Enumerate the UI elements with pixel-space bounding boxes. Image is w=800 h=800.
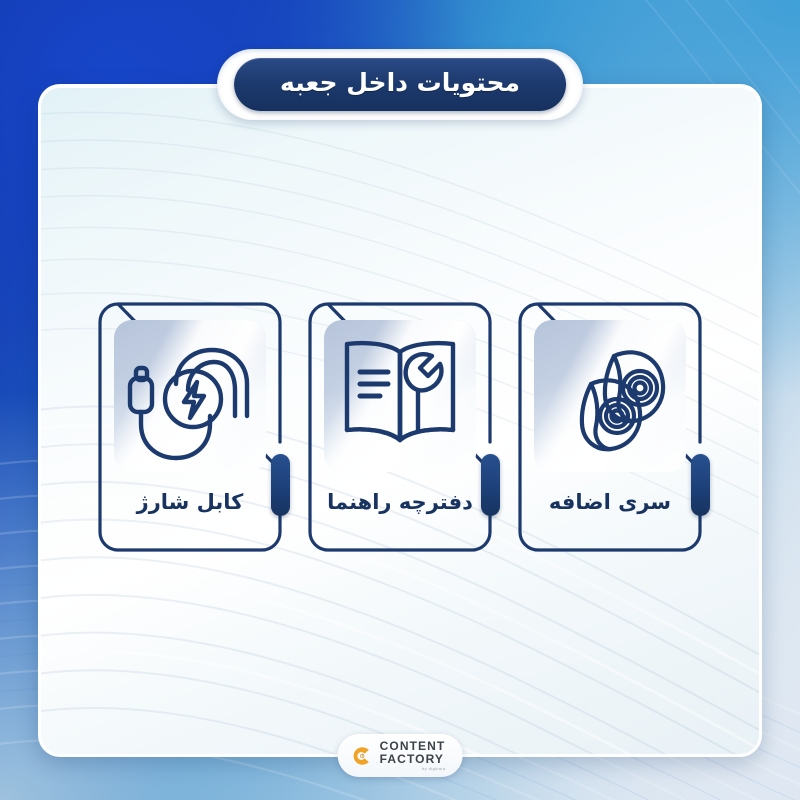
page-title: محتویات داخل جعبه	[280, 68, 520, 97]
icon-container	[534, 320, 686, 472]
title-badge: محتویات داخل جعبه	[217, 49, 583, 120]
title-badge-inner: محتویات داخل جعبه	[234, 58, 566, 111]
card-charging-cable[interactable]: کابل شارژ	[98, 302, 282, 552]
card-extra-eartips[interactable]: سری اضافه	[518, 302, 702, 552]
card-accent-tab	[271, 454, 290, 516]
card-body: سری اضافه	[518, 302, 702, 552]
card-label: کابل شارژ	[137, 490, 244, 514]
card-label: سری اضافه	[549, 490, 671, 514]
feature-cards-row: کابل شارژ	[0, 302, 800, 552]
icon-container	[324, 320, 476, 472]
card-accent-tab	[481, 454, 500, 516]
brand-logo[interactable]: CONTENT FACTORY by digikala	[338, 734, 463, 777]
charging-cable-icon	[114, 320, 266, 472]
title-badge-outer: محتویات داخل جعبه	[217, 49, 583, 120]
icon-container	[114, 320, 266, 472]
card-label: دفترچه راهنما	[327, 490, 473, 514]
card-body: دفترچه راهنما	[308, 302, 492, 552]
card-accent-tab	[691, 454, 710, 516]
logo-line-1: CONTENT	[380, 740, 446, 752]
logo-line-2: FACTORY	[380, 753, 446, 765]
card-manual-book[interactable]: دفترچه راهنما	[308, 302, 492, 552]
manual-book-wrench-icon	[324, 320, 476, 472]
logo-wordmark: CONTENT FACTORY by digikala	[380, 740, 446, 771]
logo-subtitle: by digikala	[422, 767, 445, 771]
c-logo-mark-icon	[351, 745, 373, 767]
card-body: کابل شارژ	[98, 302, 282, 552]
extra-eartips-icon	[534, 320, 686, 472]
